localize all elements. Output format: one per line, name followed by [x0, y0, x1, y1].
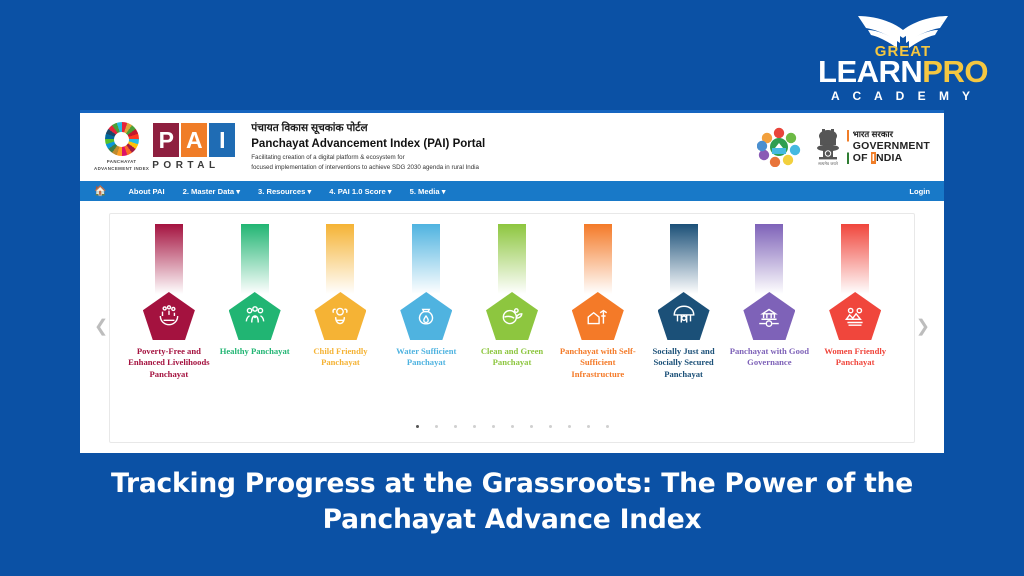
carousel-dot[interactable]: [492, 425, 495, 428]
carousel-dots: [110, 425, 914, 428]
page-title-line2: Panchayat Advance Index: [0, 502, 1024, 538]
carousel-card[interactable]: Clean and Green Panchayat: [469, 224, 555, 380]
family-health-icon: [242, 303, 268, 329]
pai-logo-subtext-line1: PANCHAYAT: [107, 159, 137, 164]
card-gradient-bar: [498, 224, 526, 294]
chevron-down-icon: ▾: [388, 187, 392, 196]
site-header-titles: पंचायत विकास सूचकांक पोर्टल Panchayat Ad…: [251, 121, 485, 172]
carousel-dot[interactable]: [549, 425, 552, 428]
carousel-container: Poverty-Free and Enhanced Livelihoods Pa…: [109, 213, 915, 443]
carousel-card[interactable]: Child Friendly Panchayat: [298, 224, 384, 380]
carousel-card[interactable]: Poverty-Free and Enhanced Livelihoods Pa…: [126, 224, 212, 380]
card-gradient-bar: [841, 224, 869, 294]
nav-item-pai-score[interactable]: 4. PAI 1.0 Score ▾: [329, 187, 391, 196]
goi-line1: GOVERNMENT: [853, 140, 930, 152]
carousel-dot[interactable]: [454, 425, 457, 428]
theme-carousel: ❮ ❯ Poverty-Free and Enhanced Livelihood…: [80, 201, 944, 453]
nav-item-about-pai[interactable]: About PAI: [128, 187, 164, 196]
card-pentagon: [143, 292, 195, 340]
umbrella-people-icon: [671, 303, 697, 329]
government-of-india-text: भारत सरकार GOVERNMENT OF INDIA: [853, 130, 930, 164]
card-pentagon: [572, 292, 624, 340]
carousel-card[interactable]: Panchayat with Self-Sufficient Infrastru…: [555, 224, 641, 380]
carousel-dot[interactable]: [416, 425, 419, 428]
leaf-earth-icon: [499, 303, 525, 329]
goi-hindi-text: भारत सरकार: [853, 130, 930, 140]
card-pentagon: [486, 292, 538, 340]
nav-item-master-data[interactable]: 2. Master Data ▾: [183, 187, 240, 196]
chevron-down-icon: ▾: [236, 187, 240, 196]
child-icon: [327, 303, 353, 329]
women-icon: [842, 303, 868, 329]
chevron-down-icon: ▾: [442, 187, 446, 196]
chevron-down-icon: ▾: [307, 187, 311, 196]
nav-item-pai-score-label: 4. PAI 1.0 Score: [329, 187, 385, 196]
sdg-color-wheel-icon: [105, 122, 139, 156]
goi-line2-pre: OF: [853, 152, 871, 164]
site-subtitle-line2: focused implementation of interventions …: [251, 164, 479, 171]
carousel-dot[interactable]: [587, 425, 590, 428]
house-tower-icon: [585, 303, 611, 329]
carousel-dot[interactable]: [568, 425, 571, 428]
pai-logo-wheel-group: PANCHAYAT ADVANCEMENT INDEX: [94, 122, 149, 172]
ashoka-lion-capital-icon: सत्यमेव जयते: [813, 127, 843, 167]
card-gradient-bar: [412, 224, 440, 294]
goi-line2: OF INDIA: [853, 152, 930, 164]
card-gradient-bar: [241, 224, 269, 294]
carousel-card[interactable]: Water Sufficient Panchayat: [383, 224, 469, 380]
pai-letter-boxes: P A I: [153, 123, 237, 157]
carousel-cards: Poverty-Free and Enhanced Livelihoods Pa…: [110, 214, 914, 380]
nav-item-master-data-label: 2. Master Data: [183, 187, 235, 196]
card-label: Healthy Panchayat: [220, 346, 290, 357]
card-label: Water Sufficient Panchayat: [383, 346, 469, 369]
greatlearnpro-logo: GREAT LEARNPRO A C A D E M Y: [808, 14, 998, 98]
card-gradient-bar: [584, 224, 612, 294]
tricolour-bar: [847, 130, 849, 164]
website-screenshot-panel: PANCHAYAT ADVANCEMENT INDEX P A I PORTAL…: [80, 110, 944, 453]
carousel-card[interactable]: Women Friendly Panchayat: [812, 224, 898, 380]
pai-portal-logo[interactable]: PANCHAYAT ADVANCEMENT INDEX P A I PORTAL: [94, 122, 237, 172]
card-pentagon: [229, 292, 281, 340]
card-gradient-bar: [755, 224, 783, 294]
site-header-right: सत्यमेव जयते भारत सरकार GOVERNMENT OF IN…: [757, 127, 930, 167]
carousel-dot[interactable]: [473, 425, 476, 428]
chevron-left-icon[interactable]: ❮: [94, 319, 108, 336]
brand-academy-text: A C A D E M Y: [808, 90, 998, 102]
site-title-hindi: पंचायत विकास सूचकांक पोर्टल: [251, 121, 485, 135]
card-label: Women Friendly Panchayat: [812, 346, 898, 369]
brand-learn-text: LEARN: [818, 54, 922, 89]
carousel-dot[interactable]: [606, 425, 609, 428]
card-label: Clean and Green Panchayat: [469, 346, 555, 369]
login-link[interactable]: Login: [909, 187, 930, 196]
pai-letter-p: P: [153, 123, 179, 157]
hand-people-icon: [156, 303, 182, 329]
nav-item-resources[interactable]: 3. Resources ▾: [258, 187, 311, 196]
water-pot-icon: [413, 303, 439, 329]
nav-item-media[interactable]: 5. Media ▾: [410, 187, 446, 196]
card-pentagon: [658, 292, 710, 340]
carousel-dot[interactable]: [511, 425, 514, 428]
page-title-line1: Tracking Progress at the Grassroots: The…: [0, 466, 1024, 502]
pai-letter-a: A: [181, 123, 207, 157]
page-title: Tracking Progress at the Grassroots: The…: [0, 466, 1024, 538]
card-pentagon: [400, 292, 452, 340]
card-pentagon: [314, 292, 366, 340]
panchayati-raj-logo-icon: [757, 127, 803, 167]
card-gradient-bar: [155, 224, 183, 294]
governance-building-icon: [756, 303, 782, 329]
chevron-right-icon[interactable]: ❯: [916, 319, 930, 336]
site-navigation-bar: 🏠 About PAI 2. Master Data ▾ 3. Resource…: [80, 181, 944, 201]
nav-item-resources-label: 3. Resources: [258, 187, 305, 196]
site-title-english: Panchayat Advancement Index (PAI) Portal: [251, 138, 485, 150]
card-label: Poverty-Free and Enhanced Livelihoods Pa…: [126, 346, 212, 380]
pai-logo-subtext: PANCHAYAT ADVANCEMENT INDEX: [94, 159, 149, 172]
carousel-card[interactable]: Socially Just and Socially Secured Panch…: [641, 224, 727, 380]
pai-logo-subtext-line2: ADVANCEMENT INDEX: [94, 166, 149, 171]
card-label: Panchayat with Good Governance: [726, 346, 812, 369]
site-header: PANCHAYAT ADVANCEMENT INDEX P A I PORTAL…: [80, 113, 944, 181]
government-of-india-emblem: सत्यमेव जयते भारत सरकार GOVERNMENT OF IN…: [813, 127, 930, 167]
card-label: Socially Just and Socially Secured Panch…: [641, 346, 727, 380]
card-label: Child Friendly Panchayat: [298, 346, 384, 369]
carousel-dot[interactable]: [435, 425, 438, 428]
pai-letter-i: I: [209, 123, 235, 157]
card-gradient-bar: [670, 224, 698, 294]
card-pentagon: [829, 292, 881, 340]
card-gradient-bar: [326, 224, 354, 294]
goi-line2-post: NDIA: [876, 152, 902, 164]
carousel-dot[interactable]: [530, 425, 533, 428]
carousel-card[interactable]: Healthy Panchayat: [212, 224, 298, 380]
carousel-card[interactable]: Panchayat with Good Governance: [726, 224, 812, 380]
card-pentagon: [743, 292, 795, 340]
brand-pro-text: PRO: [922, 54, 988, 89]
home-icon[interactable]: 🏠: [94, 186, 106, 197]
brand-learnpro-text: LEARNPRO: [808, 56, 998, 87]
site-subtitle: Facilitating creation of a digital platf…: [251, 153, 485, 172]
pai-letters-group: P A I PORTAL: [149, 123, 237, 171]
site-subtitle-line1: Facilitating creation of a digital platf…: [251, 154, 404, 161]
card-label: Panchayat with Self-Sufficient Infrastru…: [555, 346, 641, 380]
emblem-caption: सत्यमेव जयते: [818, 161, 838, 166]
nav-item-media-label: 5. Media: [410, 187, 440, 196]
pai-portal-word: PORTAL: [149, 160, 237, 171]
